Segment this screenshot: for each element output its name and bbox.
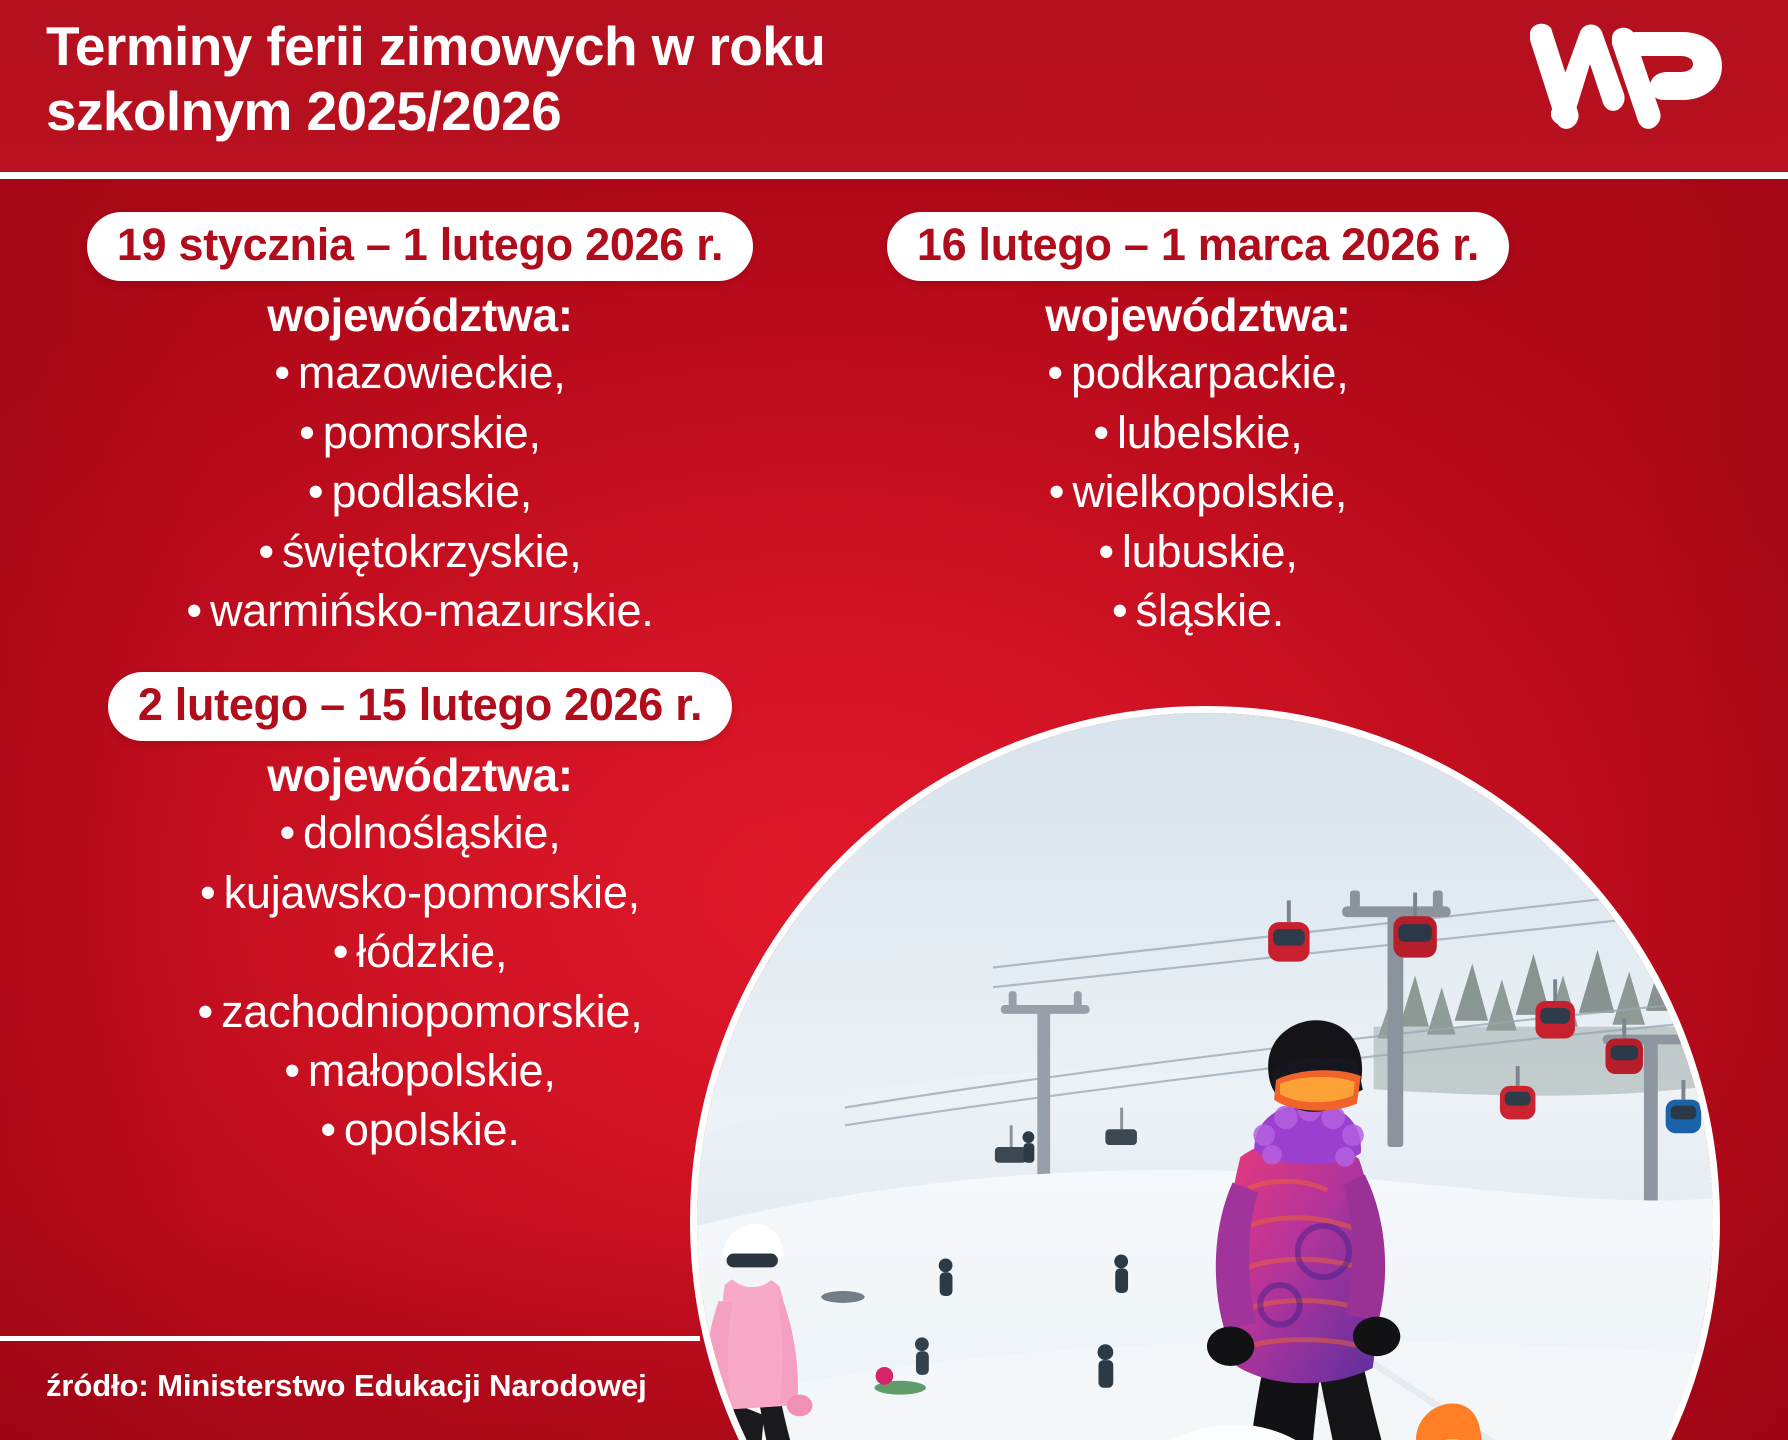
list-item: •świętokrzyskie, [40, 522, 800, 581]
voivodeship-name: lubuskie, [1122, 526, 1298, 577]
infographic-root: Terminy ferii zimowych w roku szkolnym 2… [0, 0, 1788, 1440]
voivodeship-name: pomorskie, [323, 407, 541, 458]
voivodeships-label-1: województwa: [40, 287, 800, 343]
voivodeship-name: warmińsko-mazurskie. [210, 585, 654, 636]
voivodeship-name: zachodniopomorskie, [221, 986, 642, 1037]
bullet-icon: • [279, 807, 295, 858]
header-bar: Terminy ferii zimowych w roku szkolnym 2… [0, 0, 1788, 172]
bullet-icon: • [186, 585, 202, 636]
bullet-icon: • [299, 407, 315, 458]
list-item: •podlaskie, [40, 462, 800, 521]
date-range-pill-1: 19 stycznia – 1 lutego 2026 r. [87, 212, 753, 281]
bullet-icon: • [1093, 407, 1109, 458]
date-range-pill-2: 16 lutego – 1 marca 2026 r. [887, 212, 1509, 281]
voivodeships-label-2: województwa: [818, 287, 1578, 343]
bullet-icon: • [333, 926, 349, 977]
list-item: •lubelskie, [818, 403, 1578, 462]
source-label: źródło: Ministerstwo Edukacji Narodowej [46, 1368, 647, 1404]
date-range-pill-3: 2 lutego – 15 lutego 2026 r. [108, 672, 732, 741]
footer-divider [0, 1336, 700, 1341]
date-group-2: 16 lutego – 1 marca 2026 r. województwa:… [818, 212, 1578, 640]
list-item: •mazowieckie, [40, 343, 800, 402]
ski-slope-photo [697, 713, 1713, 1440]
bullet-icon: • [200, 867, 216, 918]
list-item: •dolnośląskie, [40, 803, 800, 862]
page-title: Terminy ferii zimowych w roku szkolnym 2… [46, 14, 1146, 144]
voivodeship-name: lubelskie, [1117, 407, 1303, 458]
ski-photo-circle [690, 706, 1720, 1440]
list-item: •wielkopolskie, [818, 462, 1578, 521]
list-item: •małopolskie, [40, 1041, 800, 1100]
list-item: •łódzkie, [40, 922, 800, 981]
voivodeship-name: kujawsko-pomorskie, [224, 867, 640, 918]
bullet-icon: • [320, 1104, 336, 1155]
bullet-icon: • [284, 1045, 300, 1096]
date-group-1: 19 stycznia – 1 lutego 2026 r. województ… [40, 212, 800, 640]
voivodeships-label-3: województwa: [40, 747, 800, 803]
voivodeship-name: świętokrzyskie, [282, 526, 582, 577]
bullet-icon: • [1112, 585, 1128, 636]
list-item: •pomorskie, [40, 403, 800, 462]
wp-logo [1512, 16, 1732, 144]
voivodeship-name: podkarpackie, [1071, 347, 1349, 398]
voivodeship-name: podlaskie, [331, 466, 532, 517]
voivodeship-name: małopolskie, [308, 1045, 556, 1096]
bullet-icon: • [258, 526, 274, 577]
list-item: •kujawsko-pomorskie, [40, 863, 800, 922]
bullet-icon: • [1047, 347, 1063, 398]
list-item: •śląskie. [818, 581, 1578, 640]
list-item: •podkarpackie, [818, 343, 1578, 402]
voivodeship-name: dolnośląskie, [303, 807, 561, 858]
bullet-icon: • [308, 466, 324, 517]
voivodeship-name: wielkopolskie, [1072, 466, 1347, 517]
list-item: •warmińsko-mazurskie. [40, 581, 800, 640]
list-item: •opolskie. [40, 1100, 800, 1159]
voivodeship-list-1: •mazowieckie, •pomorskie, •podlaskie, •ś… [40, 343, 800, 640]
bullet-icon: • [1098, 526, 1114, 577]
header-divider [0, 172, 1788, 179]
bullet-icon: • [1049, 466, 1065, 517]
date-group-3: 2 lutego – 15 lutego 2026 r. województwa… [40, 672, 800, 1160]
list-item: •zachodniopomorskie, [40, 982, 800, 1041]
list-item: •lubuskie, [818, 522, 1578, 581]
voivodeship-name: śląskie. [1136, 585, 1284, 636]
voivodeship-list-2: •podkarpackie, •lubelskie, •wielkopolski… [818, 343, 1578, 640]
bullet-icon: • [198, 986, 214, 1037]
voivodeship-name: opolskie. [344, 1104, 520, 1155]
photo-credit: fot. Jakub Adamczyk/East News [1782, 1426, 1788, 1440]
voivodeship-name: mazowieckie, [298, 347, 566, 398]
voivodeship-list-3: •dolnośląskie, •kujawsko-pomorskie, •łód… [40, 803, 800, 1159]
voivodeship-name: łódzkie, [356, 926, 507, 977]
bullet-icon: • [274, 347, 290, 398]
